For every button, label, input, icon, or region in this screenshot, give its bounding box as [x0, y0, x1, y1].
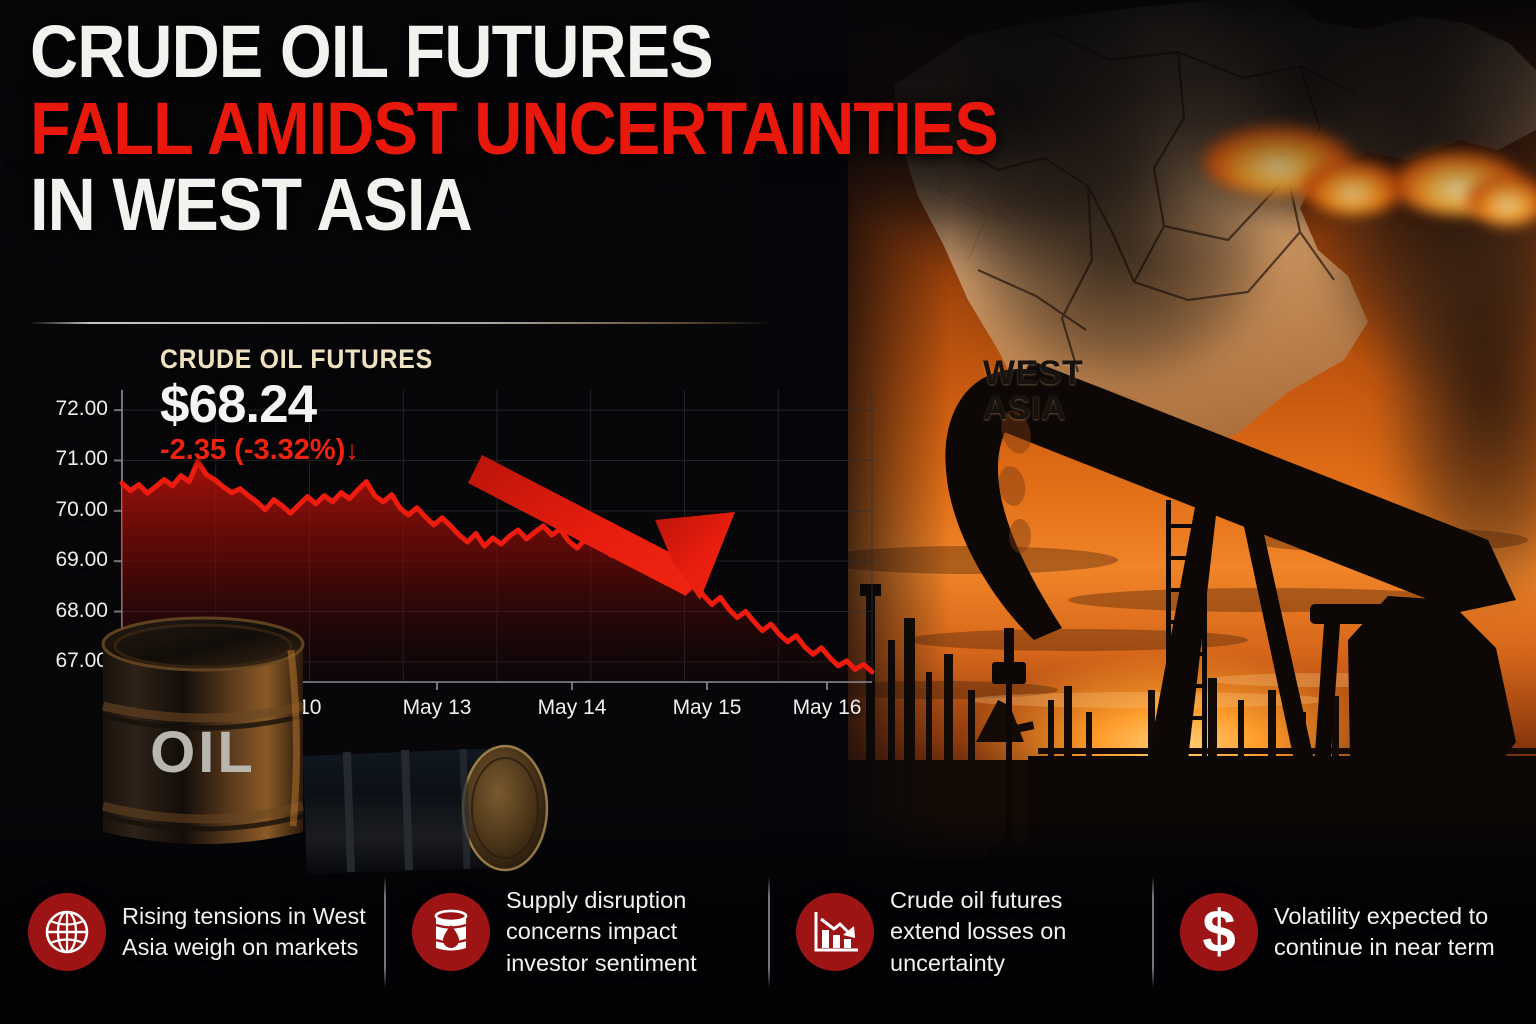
- dollar-glyph: $: [1202, 902, 1235, 962]
- x-axis-tick: May 15: [647, 696, 767, 720]
- y-axis-tick: 71.00: [8, 447, 108, 471]
- key-point-3[interactable]: Crude oil futures extend losses on uncer…: [768, 872, 1152, 992]
- headline-line-1: CRUDE OIL FUTURES: [30, 16, 1029, 89]
- infographic-canvas: WEST ASIA CRUDE OIL FUTURES FALL AMIDST …: [0, 0, 1536, 1024]
- dollar-sign-icon: $: [1180, 893, 1258, 971]
- map-region-label-line2: ASIA: [983, 391, 1083, 426]
- down-arrow-icon: ↓: [345, 435, 359, 465]
- globe-icon: [28, 893, 106, 971]
- quote-label: CRUDE OIL FUTURES: [160, 344, 433, 375]
- key-point-2[interactable]: Supply disruption concerns impact invest…: [384, 872, 768, 992]
- quote-price: $68.24: [160, 377, 457, 432]
- barrel-label: OIL: [150, 720, 256, 785]
- quote-change: -2.35 (-3.32%)↓: [160, 434, 457, 467]
- key-point-4[interactable]: $ Volatility expected to continue in nea…: [1152, 872, 1536, 992]
- map-region-label: WEST ASIA: [983, 356, 1083, 427]
- oil-barrel-icon: [412, 893, 490, 971]
- y-axis-tick: 70.00: [8, 498, 108, 522]
- x-axis-tick: May 16: [767, 696, 887, 720]
- headline-line-3: IN WEST ASIA: [30, 169, 1029, 242]
- quote-change-value: -2.35 (-3.32%): [160, 434, 345, 466]
- key-points-row: Rising tensions in West Asia weigh on ma…: [0, 840, 1536, 1024]
- map-region-label-line1: WEST: [983, 356, 1083, 391]
- oil-barrel-standing: OIL: [103, 618, 303, 844]
- headline: CRUDE OIL FUTURES FALL AMIDST UNCERTAINT…: [30, 16, 1140, 242]
- quote-block: CRUDE OIL FUTURES $68.24 -2.35 (-3.32%)↓: [160, 344, 457, 467]
- headline-divider: [32, 322, 774, 324]
- headline-line-2: FALL AMIDST UNCERTAINTIES: [30, 93, 1029, 166]
- chart-down-icon: [796, 893, 874, 971]
- key-point-1[interactable]: Rising tensions in West Asia weigh on ma…: [0, 872, 384, 992]
- y-axis-tick: 67.00: [8, 649, 108, 673]
- y-axis-tick: 72.00: [8, 397, 108, 421]
- y-axis-tick: 69.00: [8, 548, 108, 572]
- y-axis-tick: 68.00: [8, 599, 108, 623]
- key-point-4-text: Volatility expected to continue in near …: [1274, 901, 1522, 963]
- key-point-3-text: Crude oil futures extend losses on uncer…: [890, 885, 1138, 978]
- key-point-1-text: Rising tensions in West Asia weigh on ma…: [122, 901, 370, 963]
- key-point-2-text: Supply disruption concerns impact invest…: [506, 885, 754, 978]
